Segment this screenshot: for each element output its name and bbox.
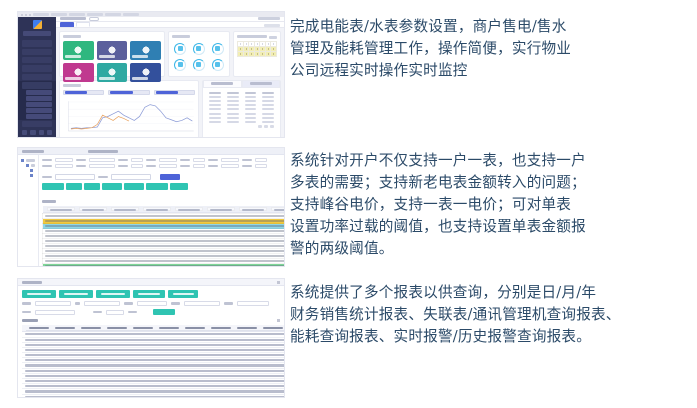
list-pane <box>39 155 284 266</box>
search-label <box>42 176 52 179</box>
folder-icon <box>21 159 24 162</box>
tile-4[interactable] <box>63 63 94 82</box>
tile-label <box>99 77 115 80</box>
sidebar-item-4[interactable] <box>22 65 52 71</box>
sidebar-subitem-3[interactable] <box>26 102 52 107</box>
window-dot-icon <box>25 14 27 16</box>
window-dot-icon <box>29 14 31 16</box>
search-row[interactable] <box>42 174 284 180</box>
org-tree[interactable] <box>18 155 39 266</box>
meter-icon <box>74 46 82 54</box>
gauge-core-icon <box>196 46 201 51</box>
sidebar-footer[interactable] <box>18 128 56 137</box>
filter-row-1[interactable] <box>42 158 284 162</box>
filter-input-4[interactable] <box>184 301 220 306</box>
report-filter-row-1[interactable] <box>22 301 280 306</box>
filter-select[interactable] <box>159 164 177 168</box>
action-btn-7[interactable] <box>170 183 188 190</box>
tile-3[interactable] <box>130 41 161 60</box>
sidebar[interactable] <box>18 17 56 137</box>
tile-5[interactable] <box>97 63 128 82</box>
filter-select[interactable] <box>55 158 73 162</box>
gauge-group <box>172 41 226 71</box>
tile-1[interactable] <box>63 41 94 60</box>
sidebar-item-2[interactable] <box>22 49 52 55</box>
page-button[interactable] <box>264 125 268 128</box>
filter-select[interactable] <box>131 164 143 168</box>
browser-tab[interactable] <box>69 13 85 16</box>
tile-2[interactable] <box>97 41 128 60</box>
filter-label <box>42 159 52 162</box>
report-filter-row-2[interactable] <box>22 309 280 315</box>
filter-select[interactable] <box>255 164 267 168</box>
line-chart <box>63 98 195 138</box>
paragraph-3: 系统提供了多个报表以供查询，分别是日/月/年 财务销售统计报表、失联表/通讯管理… <box>290 282 688 348</box>
browser-tab[interactable] <box>123 13 139 16</box>
action-btn-4[interactable] <box>102 183 122 190</box>
report-btn-3[interactable] <box>96 290 130 298</box>
tree-node-1[interactable] <box>21 164 35 167</box>
action-btn-1[interactable] <box>42 183 64 190</box>
table-caption <box>22 318 280 322</box>
tab-ranking-a[interactable] <box>203 81 242 88</box>
filter-select[interactable] <box>255 158 267 162</box>
sidebar-title <box>23 31 51 36</box>
tree-node-root[interactable] <box>21 159 35 162</box>
filter-label <box>208 159 218 162</box>
filter-select[interactable] <box>221 158 239 162</box>
sidebar-item-1[interactable] <box>22 40 52 46</box>
alarm-table <box>237 41 277 57</box>
card-title <box>172 35 190 38</box>
action-btn-6[interactable] <box>146 183 168 190</box>
tree-node-3[interactable] <box>21 174 35 177</box>
trend-chart-card <box>59 80 199 138</box>
tile-label <box>99 55 115 58</box>
card-title <box>63 84 81 87</box>
sidebar-subitem-4[interactable] <box>26 108 52 113</box>
filter-select[interactable] <box>159 158 177 162</box>
filter-label <box>42 165 52 168</box>
filter-label <box>171 302 180 305</box>
date-input[interactable] <box>35 310 75 315</box>
app-logo <box>18 20 56 30</box>
filter-label <box>242 159 252 162</box>
filter-input-3[interactable] <box>137 301 167 306</box>
filter-label <box>22 302 31 305</box>
paragraph-2: 系统针对开户不仅支持一户一表，也支持一户 多表的需要；支持新老电表金额转入的问题… <box>290 150 688 260</box>
search-input[interactable] <box>55 174 95 180</box>
content-columns <box>18 155 284 266</box>
filter-label <box>208 165 218 168</box>
user-menu[interactable] <box>258 17 280 20</box>
tab-2[interactable] <box>76 22 90 27</box>
filter-label <box>22 311 31 314</box>
ranking-card <box>202 80 281 138</box>
sidebar-item-6[interactable] <box>22 82 52 89</box>
line-chart-svg <box>63 98 195 138</box>
page-button[interactable] <box>258 125 262 128</box>
sidebar-item-3[interactable] <box>22 57 52 63</box>
ranking-tabs[interactable] <box>203 81 280 88</box>
filter-label <box>242 165 252 168</box>
filter-label <box>118 165 128 168</box>
filter-label <box>75 302 80 305</box>
filter-row-2[interactable] <box>42 164 284 168</box>
app-body <box>18 17 284 137</box>
tab-actions[interactable] <box>264 24 280 27</box>
gauge-core-icon <box>178 62 183 67</box>
card-title <box>237 35 267 38</box>
window-title <box>22 150 44 153</box>
slide-root: 完成电能表/水表参数设置，商户售电/售水 管理及能耗管理工作，操作简便，实行物业… <box>0 0 697 408</box>
report-btn-4[interactable] <box>133 290 165 298</box>
chart-select-2[interactable] <box>108 90 149 95</box>
sidebar-item-7[interactable] <box>22 121 52 127</box>
filter-label <box>76 165 86 168</box>
filter-label <box>93 311 102 314</box>
dashboard-screenshot[interactable] <box>18 12 284 137</box>
more-link[interactable] <box>269 36 277 39</box>
sidebar-footer-icon[interactable] <box>47 130 52 135</box>
gear-icon <box>142 68 150 76</box>
gauge-core-icon <box>215 46 220 51</box>
gauge-icon <box>212 43 224 55</box>
gauge-core-icon <box>178 46 183 51</box>
browser-tab[interactable] <box>51 13 67 16</box>
tile-label <box>132 55 148 58</box>
top-bar-badge <box>89 17 99 21</box>
sidebar-subitem-5[interactable] <box>26 114 52 119</box>
folder-icon <box>26 164 29 167</box>
filter-input-5[interactable] <box>237 301 269 306</box>
action-btn-3[interactable] <box>84 183 100 190</box>
pagination[interactable] <box>206 124 277 129</box>
window-title <box>22 281 42 284</box>
meter-list-screenshot[interactable] <box>18 148 284 266</box>
filter-label <box>124 302 133 305</box>
panel-title <box>88 150 118 153</box>
tab-home[interactable] <box>60 22 74 27</box>
lock-icon <box>142 46 150 54</box>
filter-select[interactable] <box>193 164 205 168</box>
search-input-2[interactable] <box>111 174 151 180</box>
filter-select[interactable] <box>55 164 73 168</box>
action-btn-2[interactable] <box>66 183 82 190</box>
main-area <box>56 17 284 137</box>
page-button[interactable] <box>270 125 274 128</box>
gauge-icon <box>174 43 186 55</box>
gauge-icon <box>193 43 205 55</box>
filter-label <box>224 302 233 305</box>
action-btn-5[interactable] <box>124 183 144 190</box>
filter-label <box>146 159 156 162</box>
report-grid[interactable] <box>22 325 284 397</box>
edit-icon <box>108 68 116 76</box>
query-button[interactable] <box>153 309 175 315</box>
table-settings-icon[interactable] <box>277 319 280 322</box>
sidebar-item-5[interactable] <box>22 74 52 80</box>
status-legend <box>42 192 284 197</box>
chart-select-1[interactable] <box>63 90 104 95</box>
tile-6[interactable] <box>130 63 161 82</box>
report-btn-1[interactable] <box>22 290 56 298</box>
sidebar-group-expanded <box>18 81 56 120</box>
filter-input-2[interactable] <box>84 301 120 306</box>
sidebar-subitem-2[interactable] <box>26 96 52 101</box>
paragraph-1: 完成电能表/水表参数设置，商户售电/售水 管理及能耗管理工作，操作简便，实行物业… <box>290 16 688 82</box>
node-icon <box>30 174 33 177</box>
tab-ranking-b[interactable] <box>242 81 281 88</box>
shortcut-card <box>59 31 165 77</box>
gauges-card <box>168 31 230 77</box>
filter-input-6[interactable] <box>106 310 124 315</box>
filter-label <box>180 159 190 162</box>
window-header <box>18 148 284 155</box>
filter-label <box>128 311 137 314</box>
logo-icon <box>33 20 42 29</box>
breadcrumb <box>60 17 86 20</box>
browser-tab[interactable] <box>33 13 49 16</box>
sidebar-subitem-1[interactable] <box>26 90 52 95</box>
report-pane <box>18 286 284 397</box>
shortcut-tiles[interactable] <box>63 41 161 82</box>
window-header <box>18 279 284 286</box>
alarm-card <box>233 31 281 77</box>
browser-tab[interactable] <box>105 13 121 16</box>
filter-label <box>180 165 190 168</box>
table-row <box>238 51 277 56</box>
chart-icon <box>74 68 82 76</box>
card-title <box>63 35 81 38</box>
filter-select[interactable] <box>89 164 115 168</box>
gauge-core-icon <box>196 62 201 67</box>
search-label <box>98 176 108 179</box>
gauge-core-icon <box>215 62 220 67</box>
sidebar-footer-icon[interactable] <box>30 130 35 135</box>
filter-select[interactable] <box>221 164 239 168</box>
chart-filters[interactable] <box>63 90 195 95</box>
filter-label <box>118 159 128 162</box>
tile-label <box>65 77 81 80</box>
window-dot-icon <box>21 14 23 16</box>
search-button[interactable] <box>160 174 180 180</box>
action-toolbar[interactable] <box>42 183 284 190</box>
filter-label <box>146 165 156 168</box>
table-row-normal <box>43 264 285 267</box>
payment-icon <box>108 46 116 54</box>
meter-grid[interactable] <box>42 206 284 266</box>
table-row <box>22 394 284 397</box>
ranking-table <box>206 91 277 125</box>
table-caption <box>42 199 284 204</box>
report-btn-5[interactable] <box>168 290 198 298</box>
tree-node-2[interactable] <box>21 169 35 172</box>
filter-label <box>76 159 86 162</box>
gauge-icon <box>174 59 186 71</box>
filter-input-1[interactable] <box>35 301 71 306</box>
filter-select[interactable] <box>193 158 205 162</box>
filter-select[interactable] <box>131 158 143 162</box>
chart-select-3[interactable] <box>154 90 195 95</box>
sidebar-footer-icon[interactable] <box>22 130 27 135</box>
report-btn-2[interactable] <box>59 290 93 298</box>
sidebar-footer-icon[interactable] <box>39 130 44 135</box>
tile-label <box>132 77 148 80</box>
table-header-row <box>22 325 284 332</box>
table-header-row <box>43 206 285 213</box>
tile-label <box>65 55 81 58</box>
dashboard-content <box>56 28 284 138</box>
node-icon <box>30 169 33 172</box>
close-icon[interactable] <box>277 281 280 284</box>
browser-tab[interactable] <box>87 13 103 16</box>
filter-select[interactable] <box>89 158 115 162</box>
gauge-icon <box>193 59 205 71</box>
gauge-icon <box>212 59 224 71</box>
report-toolbar[interactable] <box>22 290 280 298</box>
report-screenshot[interactable] <box>18 279 284 397</box>
